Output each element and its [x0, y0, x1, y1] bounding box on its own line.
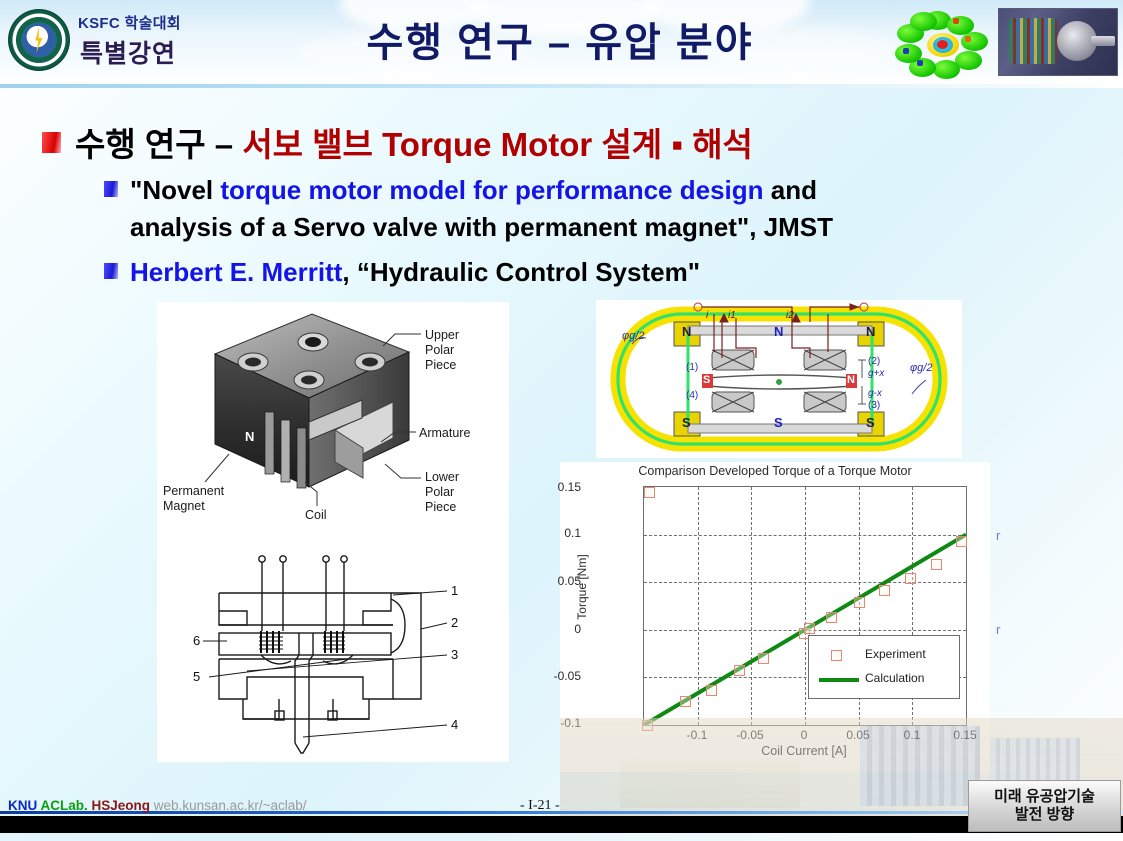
pole-label-s: S — [247, 459, 256, 474]
pole-s-bottomcenter: S — [774, 415, 783, 430]
label-permanent-magnet: Permanent Magnet — [163, 484, 224, 514]
photo-shaft — [1091, 36, 1115, 46]
blue-square-bullet-icon — [104, 181, 118, 197]
slide-title: 수행 연구 – 유압 분야 — [300, 10, 820, 68]
book-title: , “Hydraulic Control System" — [342, 257, 700, 287]
right-margin-mark: r — [996, 622, 1000, 637]
bullet-2-text: Herbert E. Merritt, “Hydraulic Control S… — [130, 254, 700, 291]
ksfc-emblem-icon — [8, 9, 70, 71]
footer-aclab: ACLab. — [41, 798, 88, 813]
armature-pole-s: S — [703, 374, 710, 387]
bullet-item-2: Herbert E. Merritt, “Hydraulic Control S… — [104, 254, 700, 291]
flux-label-left: φg/2 — [622, 330, 644, 343]
servo-valve-schematic: 1 2 3 4 5 6 — [157, 547, 509, 762]
gap-mark-4: (4) — [686, 390, 698, 402]
gap-mark-3: (3) — [868, 400, 880, 412]
magnetic-circuit-diagram: N N N S S S S N φg/2 φg/2 i i1 i2 (1) (4… — [596, 300, 962, 458]
chart-legend: Experiment Calculation — [808, 635, 960, 699]
conference-name: KSFC 학술대회 — [78, 12, 181, 33]
callout-3: 3 — [451, 647, 458, 662]
current-label-i1: i1 — [728, 310, 736, 322]
label-lower-polar-piece: Lower Polar Piece — [425, 470, 459, 514]
legend-label-experiment: Experiment — [865, 647, 926, 661]
experiment-marker — [879, 585, 890, 596]
experiment-marker — [931, 559, 942, 570]
bg-ground — [620, 758, 800, 808]
experiment-marker — [956, 536, 967, 547]
gap-minus-label: g-x — [868, 388, 882, 400]
callout-5: 5 — [193, 669, 200, 684]
right-margin-mark: r — [996, 528, 1000, 543]
bullet-1-line-1: "Novel torque motor model for performanc… — [130, 172, 833, 209]
experiment-marker — [826, 612, 837, 623]
chart-plot-area: Experiment Calculation — [643, 486, 967, 726]
photo-windings — [1009, 18, 1057, 64]
footer-black-bar — [0, 816, 1123, 833]
heading-red-part: 서보 밸브 Torque Motor 설계 ▪ 해석 — [242, 126, 753, 163]
torque-motor-photo — [998, 8, 1118, 76]
section-heading: 수행 연구 – 서보 밸브 Torque Motor 설계 ▪ 해석 — [75, 118, 753, 166]
blue-square-bullet-icon — [104, 263, 118, 279]
corner-topic-box: 미래 유공압기술 발전 방향 — [968, 780, 1121, 832]
quote-tail-text: and — [764, 175, 817, 205]
legend-marker-experiment — [831, 650, 842, 661]
author-name: Herbert E. Merritt — [130, 257, 342, 287]
pole-n-topcenter: N — [774, 324, 783, 339]
experiment-marker — [854, 597, 865, 608]
gap-plus-label: g+x — [868, 368, 884, 380]
pole-n-topright: N — [866, 324, 875, 339]
footer-knu: KNU — [8, 798, 37, 813]
callout-1: 1 — [451, 583, 458, 598]
experiment-marker — [680, 696, 691, 707]
legend-label-calculation: Calculation — [865, 671, 924, 685]
corner-line-1: 미래 유공압기술 — [994, 788, 1095, 806]
header-divider — [0, 84, 1123, 88]
bg-building-1 — [860, 726, 980, 806]
current-label-i: i — [706, 310, 708, 322]
footer-credits: KNU ACLab. HSJeong web.kunsan.ac.kr/~acl… — [8, 798, 307, 813]
flux-label-right: φg/2 — [910, 362, 932, 375]
y-tick-label: 0 — [521, 622, 581, 636]
pole-n-topleft: N — [682, 324, 691, 339]
bullet-1-text: "Novel torque motor model for performanc… — [130, 172, 833, 246]
footer-author: HSJeong — [92, 798, 151, 813]
experiment-marker — [804, 623, 815, 634]
gap-mark-2: (2) — [868, 356, 880, 368]
quote-blue-text: torque motor model for performance desig… — [220, 175, 763, 205]
pole-s-bottomright: S — [866, 415, 875, 430]
callout-6: 6 — [193, 633, 200, 648]
footer-url: web.kunsan.ac.kr/~aclab/ — [154, 798, 307, 813]
left-figure-panel: N S Upper Polar Piece Armature Lower Pol… — [157, 302, 509, 762]
chart-title: Comparison Developed Torque of a Torque … — [560, 464, 990, 478]
label-coil: Coil — [305, 508, 327, 523]
heading-black-part: 수행 연구 – — [75, 126, 242, 163]
experiment-marker — [905, 573, 916, 584]
current-label-i2: i2 — [786, 310, 794, 322]
page-number: - I-21 - — [520, 798, 560, 814]
label-upper-polar-piece: Upper Polar Piece — [425, 328, 459, 372]
lecture-type: 특별강연 — [80, 34, 176, 70]
y-tick-label: 0.1 — [521, 526, 581, 540]
y-tick-label: 0.15 — [521, 480, 581, 494]
y-tick-label: -0.05 — [521, 669, 581, 683]
bullet-1-line-2: analysis of a Servo valve with permanent… — [130, 209, 833, 246]
experiment-marker — [644, 487, 655, 498]
presentation-slide: KSFC 학술대회 특별강연 수행 연구 – 유압 분야 — [0, 0, 1123, 841]
experiment-marker — [758, 653, 769, 664]
callout-4: 4 — [451, 717, 458, 732]
torque-motor-cutaway-photo: N S Upper Polar Piece Armature Lower Pol… — [157, 302, 509, 540]
pole-label-n: N — [245, 429, 254, 444]
quote-open-text: "Novel — [130, 175, 220, 205]
experiment-marker — [706, 685, 717, 696]
callout-2: 2 — [451, 615, 458, 630]
y-tick-label: 0.05 — [521, 574, 581, 588]
corner-line-2: 발전 방향 — [1015, 806, 1074, 824]
armature-pole-n: N — [847, 374, 855, 387]
legend-line-calculation — [819, 678, 859, 682]
experiment-marker — [734, 665, 745, 676]
bullet-item-1: "Novel torque motor model for performanc… — [104, 172, 833, 246]
green-flower-logo-icon — [893, 8, 993, 80]
gap-mark-1: (1) — [686, 362, 698, 374]
label-armature: Armature — [419, 426, 470, 441]
section-heading-row: 수행 연구 – 서보 밸브 Torque Motor 설계 ▪ 해석 — [42, 118, 753, 166]
pole-s-bottomleft: S — [682, 415, 691, 430]
slide-header: KSFC 학술대회 특별강연 수행 연구 – 유압 분야 — [0, 0, 1123, 85]
red-square-bullet-icon — [42, 132, 61, 153]
